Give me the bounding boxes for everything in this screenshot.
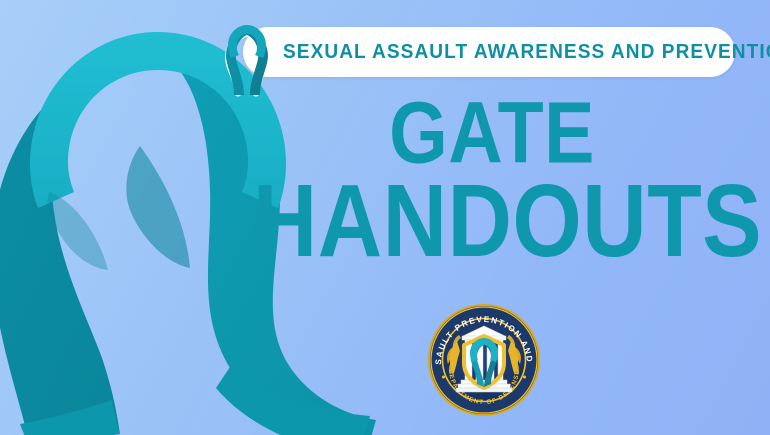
awareness-month-banner: SEXUAL ASSAULT AWARENESS AND PREVENTION … (243, 27, 735, 77)
awareness-ribbon-icon (216, 21, 278, 99)
page-title: GATE HANDOUTS (232, 96, 752, 266)
dod-sapr-seal: SEXUAL ASSAULT PREVENTION AND RESPONSE D… (427, 303, 541, 417)
awareness-banner-label: SEXUAL ASSAULT AWARENESS AND PREVENTION … (283, 40, 770, 64)
headline-line-2: HANDOUTS (253, 174, 731, 270)
poster-canvas: SEXUAL ASSAULT AWARENESS AND PREVENTION … (0, 0, 770, 435)
